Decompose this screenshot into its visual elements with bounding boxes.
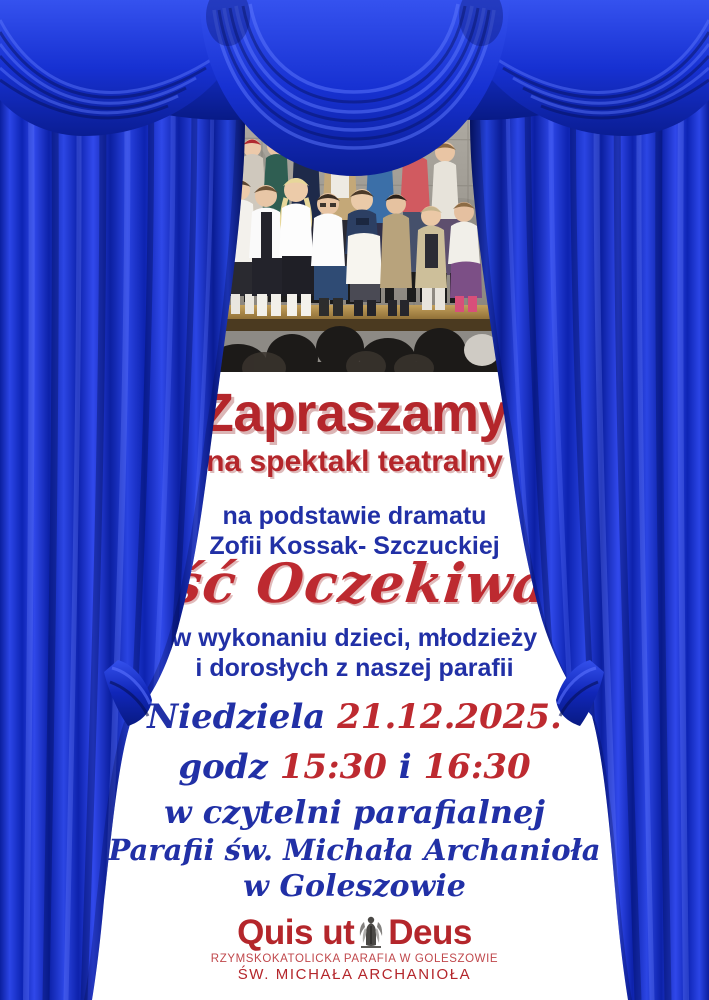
performers-line1: w wykonaniu dzieci, młodzieży	[172, 624, 537, 652]
event-time-conjunction: i	[399, 747, 412, 787]
event-time-first: 15:30	[280, 747, 387, 787]
archangel-michael-icon	[358, 912, 384, 952]
headline-primary: Zapraszamy	[0, 386, 709, 440]
theatre-invitation-poster: Zapraszamy na spektakl teatralny na pods…	[0, 0, 709, 1000]
event-time-line: godz 15:30 i 16:30	[0, 750, 709, 784]
performers-line2: i dorosłych z naszej parafii	[195, 654, 513, 682]
headline-secondary: na spektakl teatralny	[0, 447, 709, 477]
play-title: Gość Oczekiwany	[0, 556, 709, 610]
logo-word-quis-ut: Quis ut	[237, 915, 354, 950]
venue-line-2: Parafii św. Michała Archanioła	[0, 836, 709, 865]
logo-wordmark: Quis ut	[0, 912, 709, 952]
event-date-line: Niedziela 21.12.2025.	[0, 700, 709, 734]
logo-word-deus: Deus	[388, 915, 472, 950]
event-hour-label: godz	[178, 747, 268, 787]
logo-subtitle-parish: RZYMSKOKATOLICKA PARAFIA W GOLESZOWIE	[0, 953, 709, 965]
event-date: 21.12.2025.	[337, 697, 562, 737]
event-day-label: Niedziela	[147, 697, 325, 737]
venue-line-3: w Goleszowie	[0, 872, 709, 902]
performers-lines: w wykonaniu dzieci, młodzieży i dorosłyc…	[0, 624, 709, 683]
based-on-line1: na podstawie dramatu	[223, 502, 487, 530]
logo-subtitle-patron: ŚW. MICHAŁA ARCHANIOŁA	[0, 966, 709, 983]
parish-logo: Quis ut	[0, 912, 709, 983]
venue-line-1: w czytelni parafialnej	[0, 796, 709, 828]
event-time-second: 16:30	[424, 747, 531, 787]
stage-performance-photo	[200, 100, 510, 372]
